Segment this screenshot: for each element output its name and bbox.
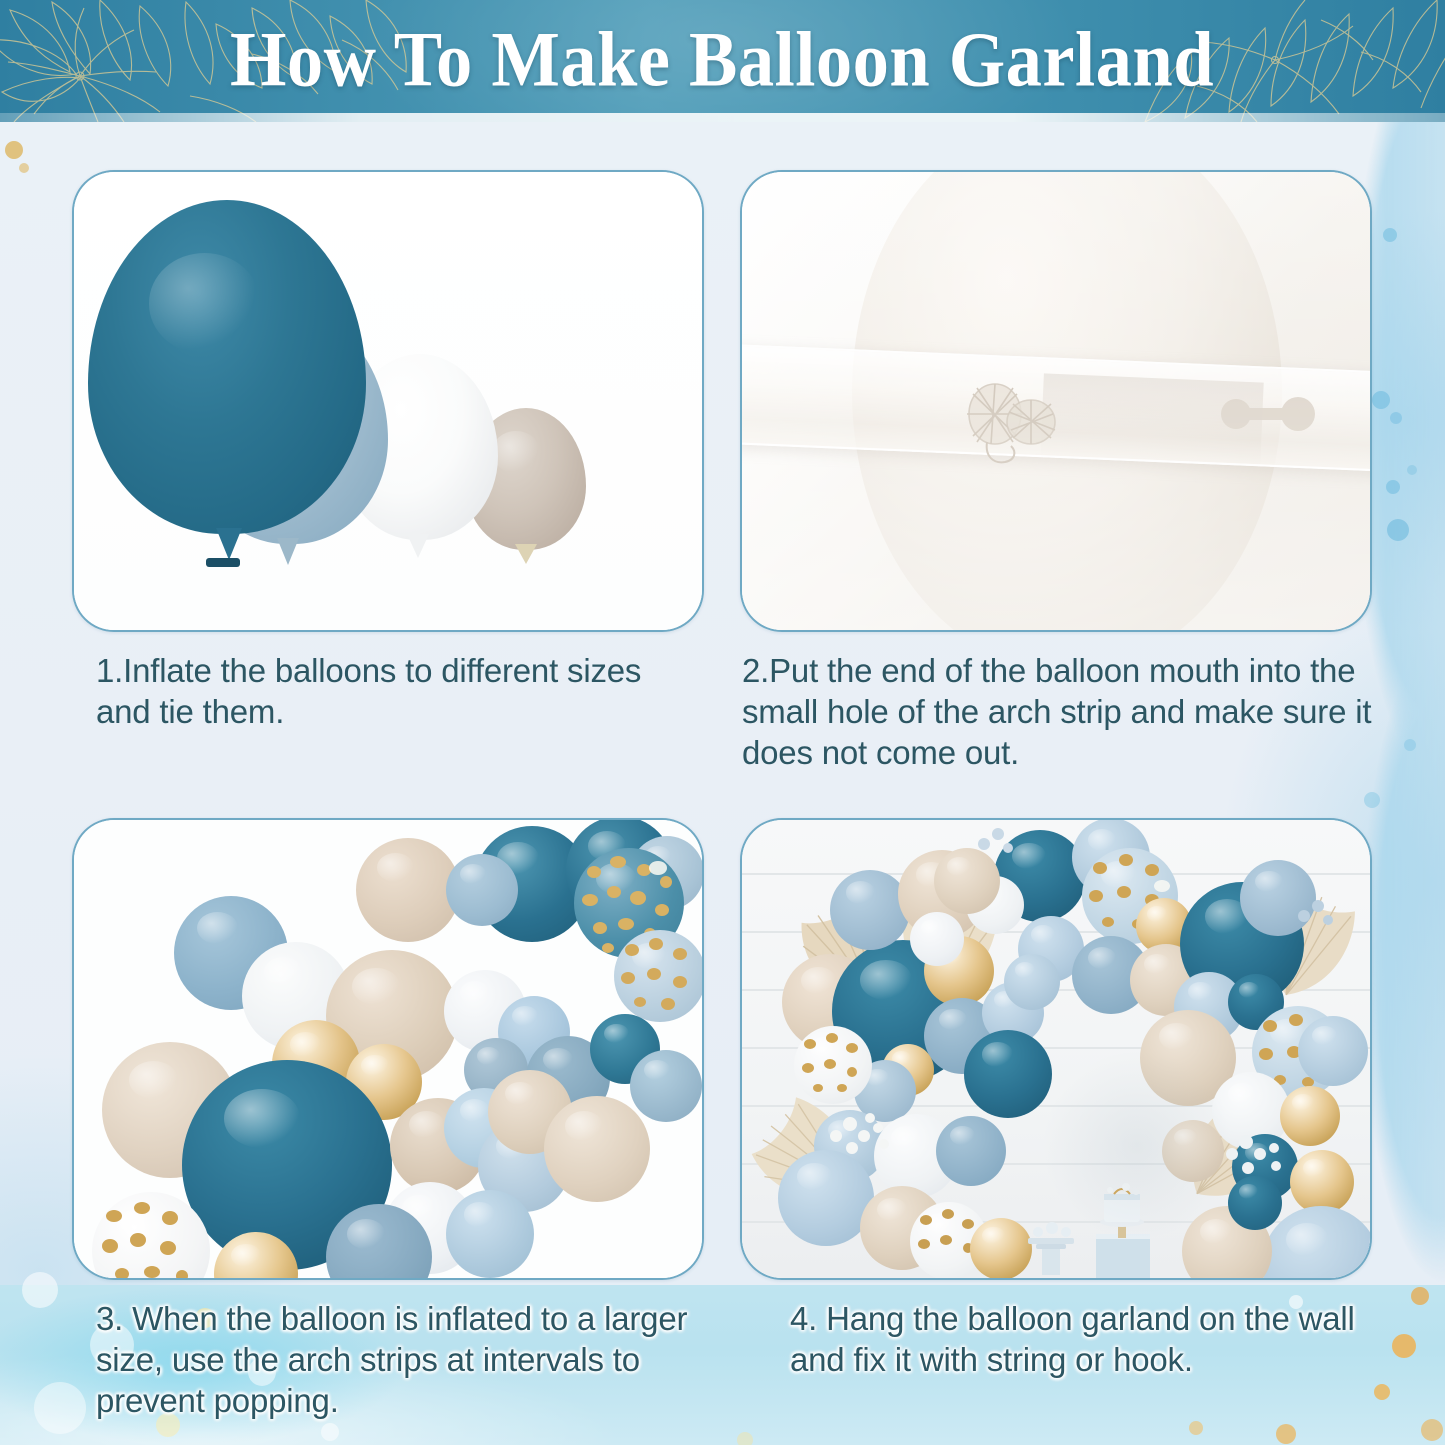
step-1-image-card: [72, 170, 704, 632]
gold-confetti-dots-icon: [92, 1192, 210, 1278]
wall-shadow: [1042, 1050, 1232, 1240]
page-title-text: How To Make Balloon Garland: [231, 16, 1215, 102]
balloon-dark-teal-knot: [216, 528, 242, 560]
step-2-image-card: [740, 170, 1372, 632]
page-title: How To Make Balloon Garland: [0, 16, 1445, 102]
garland-balloon: [446, 854, 518, 926]
balloon-dark-teal: [88, 200, 366, 534]
balloon-dusty-blue-knot: [277, 538, 299, 565]
babys-breath-icon: [1294, 896, 1338, 936]
step-4-caption: 4. Hang the balloon garland on the wall …: [790, 1298, 1390, 1380]
arch-balloon: [910, 912, 964, 966]
steps-grid: 1.Inflate the balloons to different size…: [0, 122, 1445, 1445]
balloon-white-knot: [407, 534, 429, 558]
babys-breath-icon: [826, 1106, 896, 1162]
gold-confetti-dots-icon: [794, 1026, 872, 1104]
balloon-knot-in-arch-strip-photo: [742, 172, 1370, 630]
arch-balloon: [1298, 1016, 1368, 1086]
step-3-caption: 3. When the balloon is inflated to a lar…: [96, 1298, 712, 1421]
arch-balloon: [936, 1116, 1006, 1186]
balloon-beige-knot: [515, 544, 537, 564]
garland-balloon: [446, 1190, 534, 1278]
step-2-caption: 2.Put the end of the balloon mouth into …: [742, 650, 1382, 773]
arch-balloon: [1004, 954, 1060, 1010]
arch-gold-chrome-balloon: [1290, 1150, 1354, 1214]
babys-breath-icon: [974, 824, 1018, 864]
arch-balloon: [1228, 1176, 1282, 1230]
balloon-arch-on-wall-photo: [742, 820, 1370, 1278]
garland-balloon: [630, 1050, 702, 1122]
infographic-page: How To Make Balloon Garland: [0, 0, 1445, 1445]
step-4-image-card: [740, 818, 1372, 1280]
garland-balloon: [356, 838, 460, 942]
photo-wash-overlay: [742, 172, 1370, 630]
arch-balloon: [964, 1030, 1052, 1118]
balloon-garland-cluster-photo: [74, 820, 702, 1278]
garland-balloon: [544, 1096, 650, 1202]
header-underline: [0, 113, 1445, 122]
step-1-caption: 1.Inflate the balloons to different size…: [96, 650, 696, 732]
step-3-image-card: [72, 818, 704, 1280]
four-balloons-different-sizes-photo: [74, 172, 702, 630]
arch-balloon: [830, 870, 910, 950]
balloon-dark-teal-neck: [206, 558, 240, 567]
gold-confetti-dots-icon: [614, 930, 702, 1022]
page-header: How To Make Balloon Garland: [0, 0, 1445, 122]
